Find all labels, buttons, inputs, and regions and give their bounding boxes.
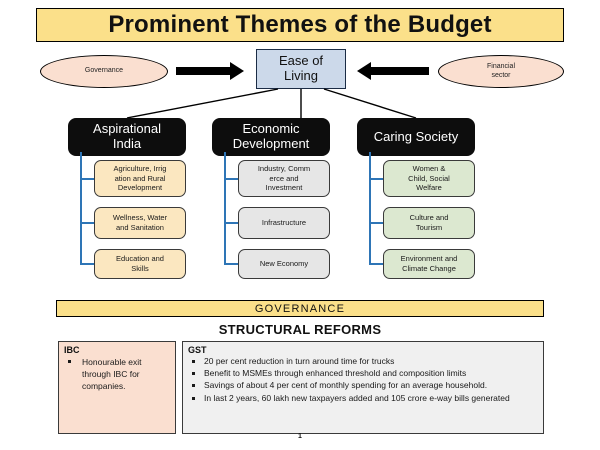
slide-canvas: Prominent Themes of the Budget Governanc… — [0, 0, 600, 450]
pillar0-line1: Aspirational — [93, 121, 161, 136]
financial-line1: Financial — [487, 63, 515, 70]
gst-bullet: 20 per cent reduction in turn around tim… — [188, 356, 539, 368]
subitem-education-and-skills: Education and Skills — [94, 249, 186, 279]
gst-bullet: In last 2 years, 60 lakh new taxpayers a… — [188, 393, 539, 405]
l1: Wellness, Water — [113, 213, 167, 222]
l3: Development — [118, 183, 162, 192]
pillar-header-caring-society: Caring Society — [357, 118, 475, 156]
subitem-culture-and-tourism: Culture and Tourism — [383, 207, 475, 239]
subitem-label: Environment and Climate Change — [401, 254, 458, 274]
pillar-header-aspirational-india: Aspirational India — [68, 118, 186, 156]
subitem-label: Infrastructure — [262, 218, 306, 228]
governance-band-label: GOVERNANCE — [255, 303, 345, 315]
ibc-bullet-list: Honourable exit through IBC for companie… — [64, 356, 171, 392]
l1: Environment and — [401, 254, 458, 263]
rail-tick — [224, 263, 238, 265]
page-title: Prominent Themes of the Budget — [108, 11, 491, 39]
rail-economic — [224, 152, 226, 264]
subitem-women-child-social-welfare: Women & Child, Social Welfare — [383, 160, 475, 197]
financial-sector-ellipse: Financial sector — [438, 55, 564, 88]
pillar-header-label: Aspirational India — [93, 122, 161, 152]
gst-box: GST 20 per cent reduction in turn around… — [182, 341, 544, 434]
pillar-header-label: Economic Development — [233, 122, 310, 152]
pillar0-line2: India — [113, 136, 141, 151]
financial-sector-ellipse-label: Financial sector — [487, 63, 515, 81]
l1: Education and — [116, 254, 164, 263]
rail-tick — [80, 178, 94, 180]
ease-of-living-box: Ease of Living — [256, 49, 346, 89]
gst-bullet: Benefit to MSMEs through enhanced thresh… — [188, 368, 539, 380]
l1: Culture and — [410, 213, 449, 222]
subitem-new-economy: New Economy — [238, 249, 330, 279]
subitem-label: Agriculture, Irrig ation and Rural Devel… — [114, 164, 167, 193]
ease-of-living-label: Ease of Living — [279, 54, 323, 84]
rail-tick — [80, 263, 94, 265]
rail-tick — [80, 222, 94, 224]
subitem-environment-and-climate-change: Environment and Climate Change — [383, 249, 475, 279]
arrow-left-head-icon — [357, 62, 371, 80]
l3: Investment — [266, 183, 303, 192]
l1: Agriculture, Irrig — [114, 164, 167, 173]
governance-band: GOVERNANCE — [56, 300, 544, 317]
structural-reforms-title: STRUCTURAL REFORMS — [56, 322, 544, 337]
rail-tick — [369, 222, 383, 224]
subitem-label: Women & Child, Social Welfare — [408, 164, 450, 193]
subitem-wellness-water-sanitation: Wellness, Water and Sanitation — [94, 207, 186, 239]
subitem-label: New Economy — [260, 259, 308, 269]
governance-ellipse: Governance — [40, 55, 168, 88]
l2: ation and Rural — [115, 174, 166, 183]
subitem-industry-commerce-investment: Industry, Comm erce and Investment — [238, 160, 330, 197]
financial-line2: sector — [491, 72, 510, 79]
rail-tick — [369, 263, 383, 265]
subitem-label: Education and Skills — [116, 254, 164, 274]
l2: Child, Social — [408, 174, 450, 183]
l2: and Sanitation — [116, 223, 164, 232]
ease-line1: Ease of — [279, 53, 323, 68]
subitem-infrastructure: Infrastructure — [238, 207, 330, 239]
pillar1-line2: Development — [233, 136, 310, 151]
rail-tick — [224, 222, 238, 224]
subitem-label: Industry, Comm erce and Investment — [258, 164, 310, 193]
gst-bullet: Savings of about 4 per cent of monthly s… — [188, 380, 539, 392]
pillar-header-label: Caring Society — [374, 130, 459, 145]
subitem-label: Culture and Tourism — [410, 213, 449, 233]
arrow-right-icon — [176, 67, 232, 75]
l2: Tourism — [416, 223, 442, 232]
ibc-heading: IBC — [64, 345, 171, 355]
arrow-left-icon — [371, 67, 429, 75]
page-number: 1 — [0, 433, 600, 440]
subitem-agriculture-irrigation-rural-development: Agriculture, Irrig ation and Rural Devel… — [94, 160, 186, 197]
rail-tick — [224, 178, 238, 180]
l2: erce and — [269, 174, 298, 183]
gst-bullet-list: 20 per cent reduction in turn around tim… — [188, 356, 539, 404]
l3: Welfare — [416, 183, 442, 192]
gst-heading: GST — [188, 345, 539, 355]
l1: Women & — [413, 164, 446, 173]
rail-tick — [369, 178, 383, 180]
ease-line2: Living — [284, 68, 318, 83]
subitem-label: Wellness, Water and Sanitation — [113, 213, 167, 233]
l2: Skills — [131, 264, 149, 273]
arrow-right-head-icon — [230, 62, 244, 80]
slide-title-box: Prominent Themes of the Budget — [36, 8, 564, 42]
ibc-bullet: Honourable exit through IBC for companie… — [64, 356, 171, 392]
governance-ellipse-label: Governance — [85, 67, 123, 76]
pillar1-line1: Economic — [242, 121, 299, 136]
l1: Industry, Comm — [258, 164, 310, 173]
pillar-header-economic-development: Economic Development — [212, 118, 330, 156]
l2: Climate Change — [402, 264, 456, 273]
rail-caring — [369, 152, 371, 264]
rail-aspirational — [80, 152, 82, 264]
ibc-box: IBC Honourable exit through IBC for comp… — [58, 341, 176, 434]
